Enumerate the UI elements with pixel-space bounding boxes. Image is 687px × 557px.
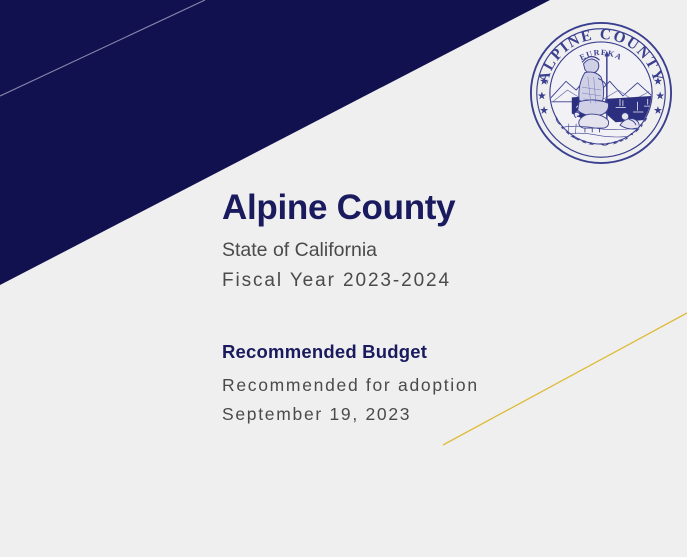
- cover-page: ALPINE COUNTY CALIFORNIA: [0, 0, 687, 557]
- budget-type-label: Recommended Budget: [222, 338, 642, 366]
- text-spacer: [222, 296, 642, 338]
- state-subtitle: State of California: [222, 236, 642, 264]
- adoption-note: Recommended for adoption: [222, 371, 642, 400]
- adoption-date: September 19, 2023: [222, 400, 642, 429]
- cover-text-block: Alpine County State of California Fiscal…: [222, 186, 642, 429]
- alpine-county-seal: ALPINE COUNTY CALIFORNIA: [528, 20, 674, 166]
- page-title: Alpine County: [222, 186, 642, 230]
- fiscal-year-label: Fiscal Year 2023-2024: [222, 266, 642, 296]
